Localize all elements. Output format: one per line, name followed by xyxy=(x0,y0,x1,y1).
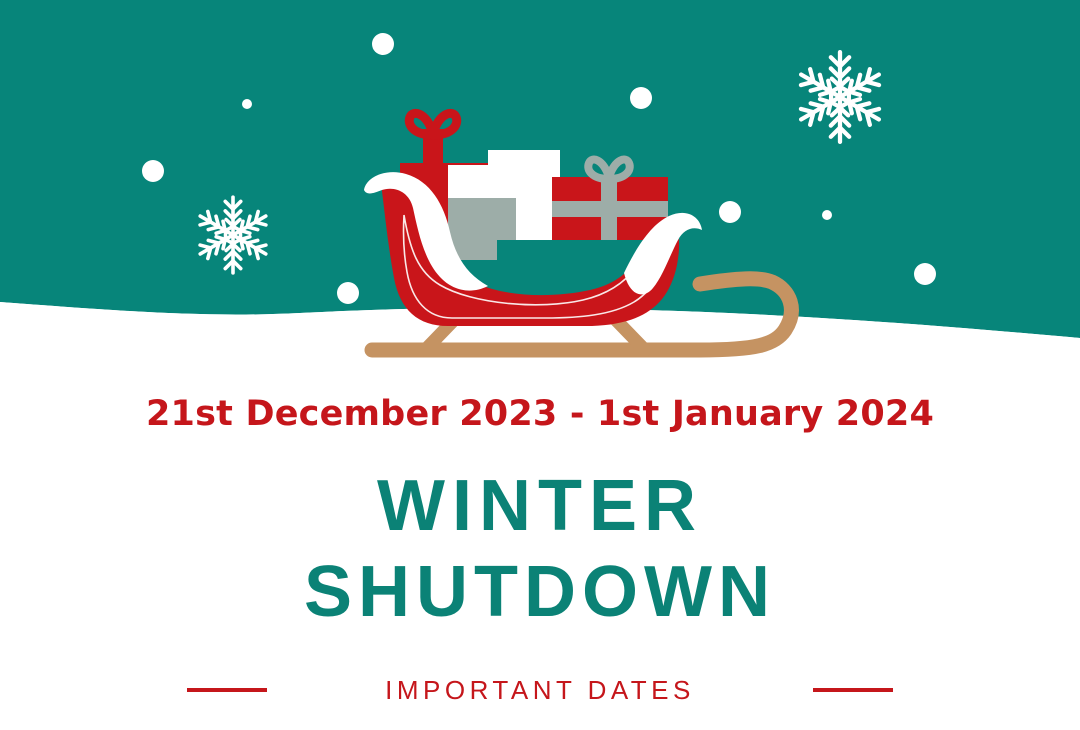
snow-dot-2 xyxy=(242,99,252,109)
date-range-text: 21st December 2023 - 1st January 2024 xyxy=(0,394,1080,434)
winter-shutdown-poster: 21st December 2023 - 1st January 2024 WI… xyxy=(0,0,1080,730)
divider-rule-left xyxy=(187,688,267,692)
page-title-line-1: WINTER xyxy=(0,470,1080,542)
poster-text-content: 21st December 2023 - 1st January 2024 WI… xyxy=(0,370,1080,730)
snow-dot-8 xyxy=(337,282,359,304)
snow-dot-1 xyxy=(372,33,394,55)
snow-dot-7 xyxy=(914,263,936,285)
snow-dot-5 xyxy=(719,201,741,223)
page-title-line-2: SHUTDOWN xyxy=(0,556,1080,628)
snow-dot-4 xyxy=(142,160,164,182)
gift-teal-front xyxy=(497,240,732,280)
snow-dot-3 xyxy=(630,87,652,109)
footer-row: IMPORTANT DATES xyxy=(0,670,1080,710)
divider-rule-right xyxy=(813,688,893,692)
footer-label: IMPORTANT DATES xyxy=(385,675,695,706)
snow-dot-6 xyxy=(822,210,832,220)
winter-scene-illustration xyxy=(0,0,1080,370)
